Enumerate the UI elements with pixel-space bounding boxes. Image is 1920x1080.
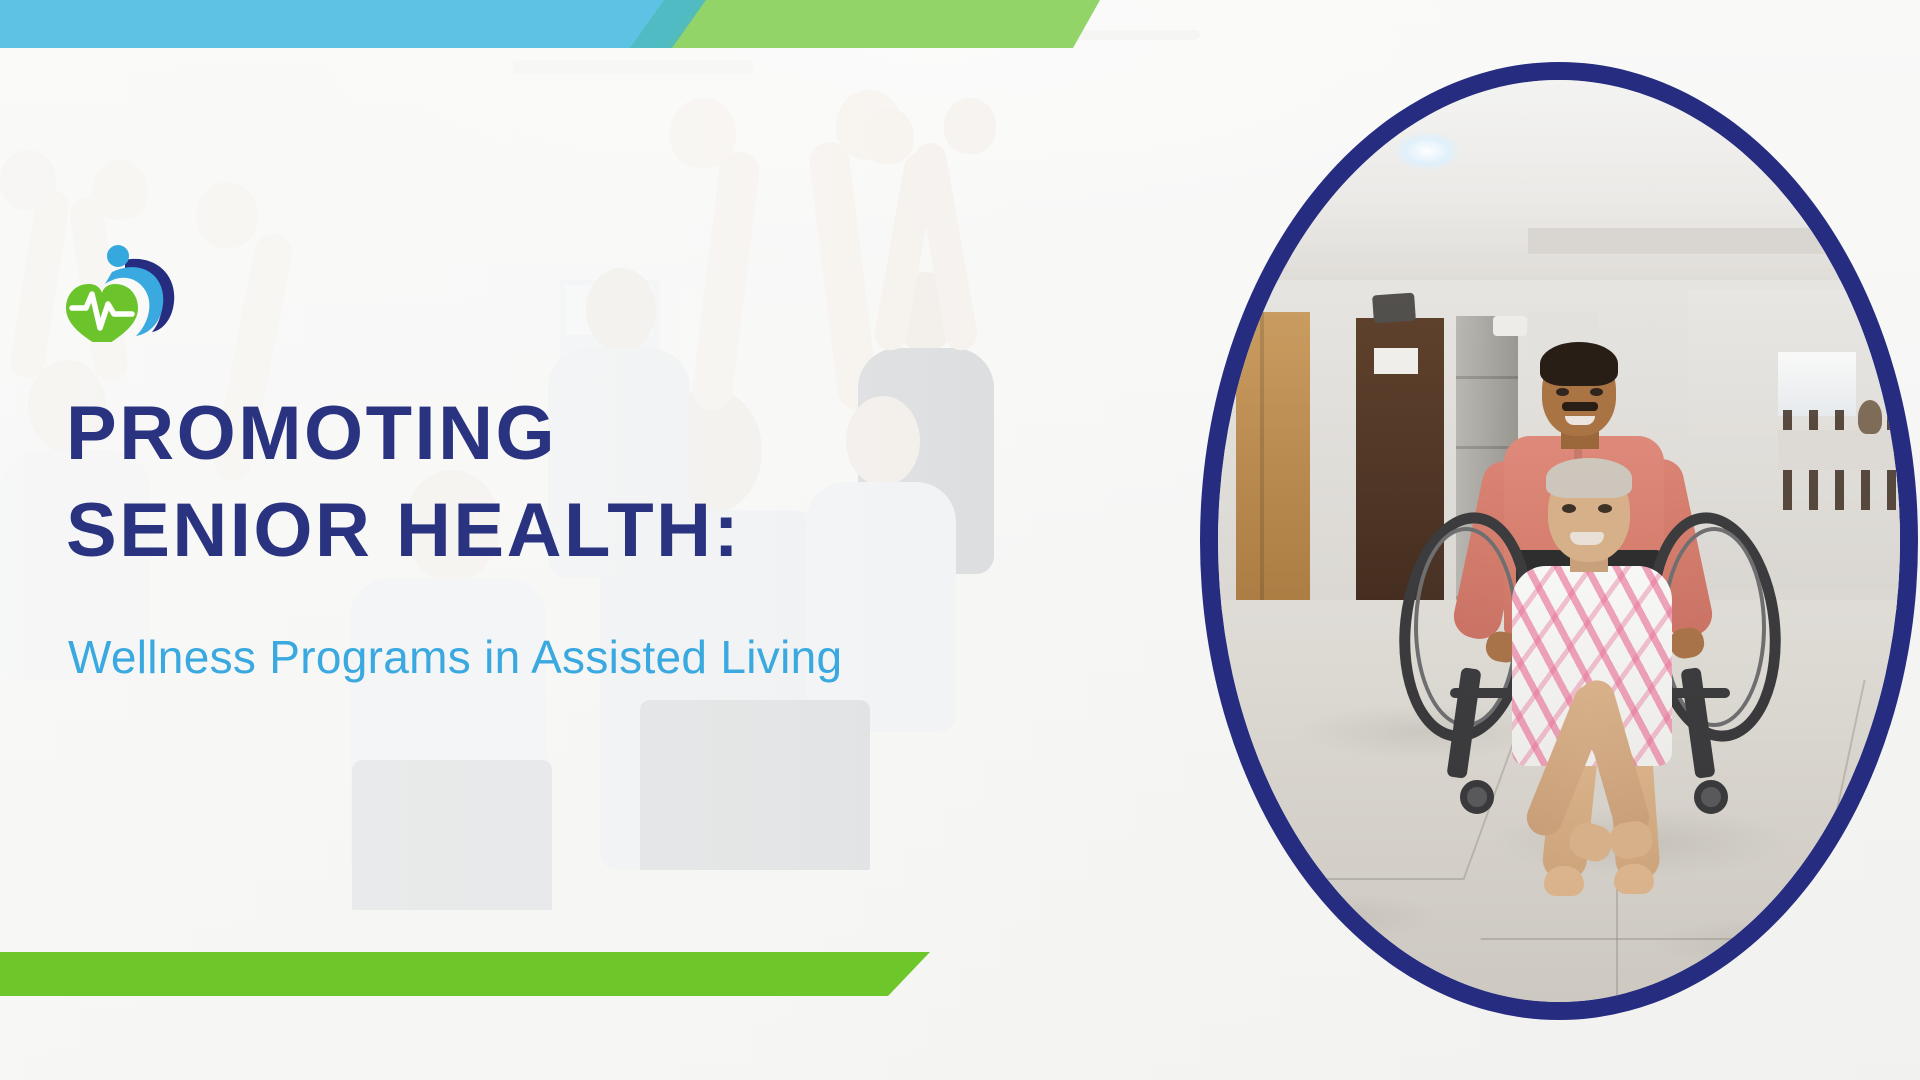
health-heart-logo (56, 232, 186, 342)
title-line-1: PROMOTING (66, 385, 1116, 482)
circle-photo-ring (1200, 62, 1918, 1020)
page-title: PROMOTING SENIOR HEALTH: (66, 385, 1116, 580)
circle-photo-frame (1200, 62, 1918, 1022)
photo-vignette (1218, 80, 1900, 1002)
page-subtitle: Wellness Programs in Assisted Living (68, 630, 842, 684)
bottom-green-band (0, 952, 930, 996)
caregiver-pushing-wheelchair-photo (1218, 80, 1900, 1002)
title-line-2: SENIOR HEALTH: (66, 482, 1116, 579)
top-blue-band (0, 0, 700, 48)
